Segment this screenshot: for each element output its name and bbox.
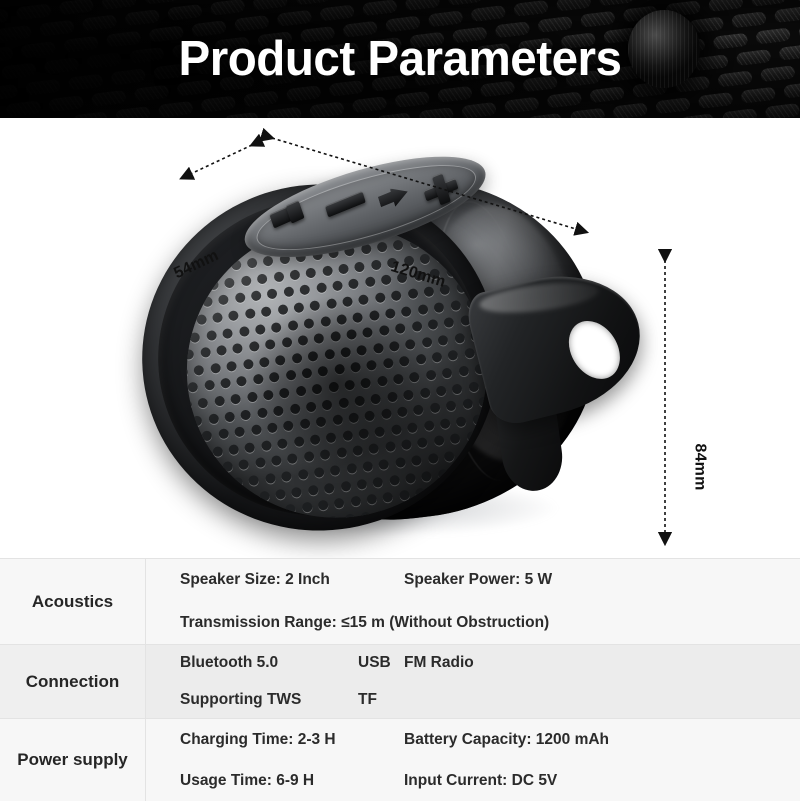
table-row: Connection Bluetooth 5.0 USB FM Radio Su…	[0, 645, 800, 719]
spec-line: Transmission Range: ≤15 m (Without Obstr…	[180, 602, 800, 645]
spec-category-label: Acoustics	[0, 559, 146, 644]
spec-values: Bluetooth 5.0 USB FM Radio Supporting TW…	[146, 645, 800, 718]
spec-value: Speaker Power: 5 W	[404, 571, 552, 589]
spec-value: Usage Time: 6-9 H	[180, 772, 404, 790]
product-image-area: 54mm 120mm 84mm	[0, 118, 800, 558]
product-parameters-infographic: Product Parameters	[0, 0, 800, 800]
table-row: Acoustics Speaker Size: 2 Inch Speaker P…	[0, 559, 800, 645]
spec-value: Charging Time: 2-3 H	[180, 731, 404, 749]
page-title: Product Parameters	[12, 0, 788, 118]
spec-value: Speaker Size: 2 Inch	[180, 571, 404, 589]
spec-values: Speaker Size: 2 Inch Speaker Power: 5 W …	[146, 559, 800, 644]
header-banner: Product Parameters	[0, 0, 800, 118]
speaker-body	[118, 151, 627, 556]
spec-value: Battery Capacity: 1200 mAh	[404, 731, 609, 749]
spec-line: Usage Time: 6-9 H Input Current: DC 5V	[180, 760, 800, 801]
spec-line: Bluetooth 5.0 USB FM Radio	[180, 645, 800, 682]
speaker-grille	[170, 206, 504, 534]
spec-value: Input Current: DC 5V	[404, 772, 557, 790]
spec-value: Supporting TWS	[180, 691, 358, 709]
spec-values: Charging Time: 2-3 H Battery Capacity: 1…	[146, 719, 800, 801]
spec-value: FM Radio	[404, 654, 474, 672]
specifications-table: Acoustics Speaker Size: 2 Inch Speaker P…	[0, 558, 800, 801]
spec-value: TF	[358, 691, 404, 709]
spec-line: Charging Time: 2-3 H Battery Capacity: 1…	[180, 719, 800, 760]
spec-value: Bluetooth 5.0	[180, 654, 358, 672]
spec-value: USB	[358, 654, 404, 672]
spec-category-label: Power supply	[0, 719, 146, 801]
table-row: Power supply Charging Time: 2-3 H Batter…	[0, 719, 800, 801]
spec-line: Supporting TWS TF	[180, 682, 800, 719]
dimension-label-84mm: 84mm	[691, 443, 709, 490]
grille-hole-pattern	[170, 206, 504, 534]
spec-category-label: Connection	[0, 645, 146, 718]
speaker-product-image	[136, 160, 636, 558]
spec-line: Speaker Size: 2 Inch Speaker Power: 5 W	[180, 559, 800, 602]
spec-value: Transmission Range: ≤15 m (Without Obstr…	[180, 614, 800, 632]
